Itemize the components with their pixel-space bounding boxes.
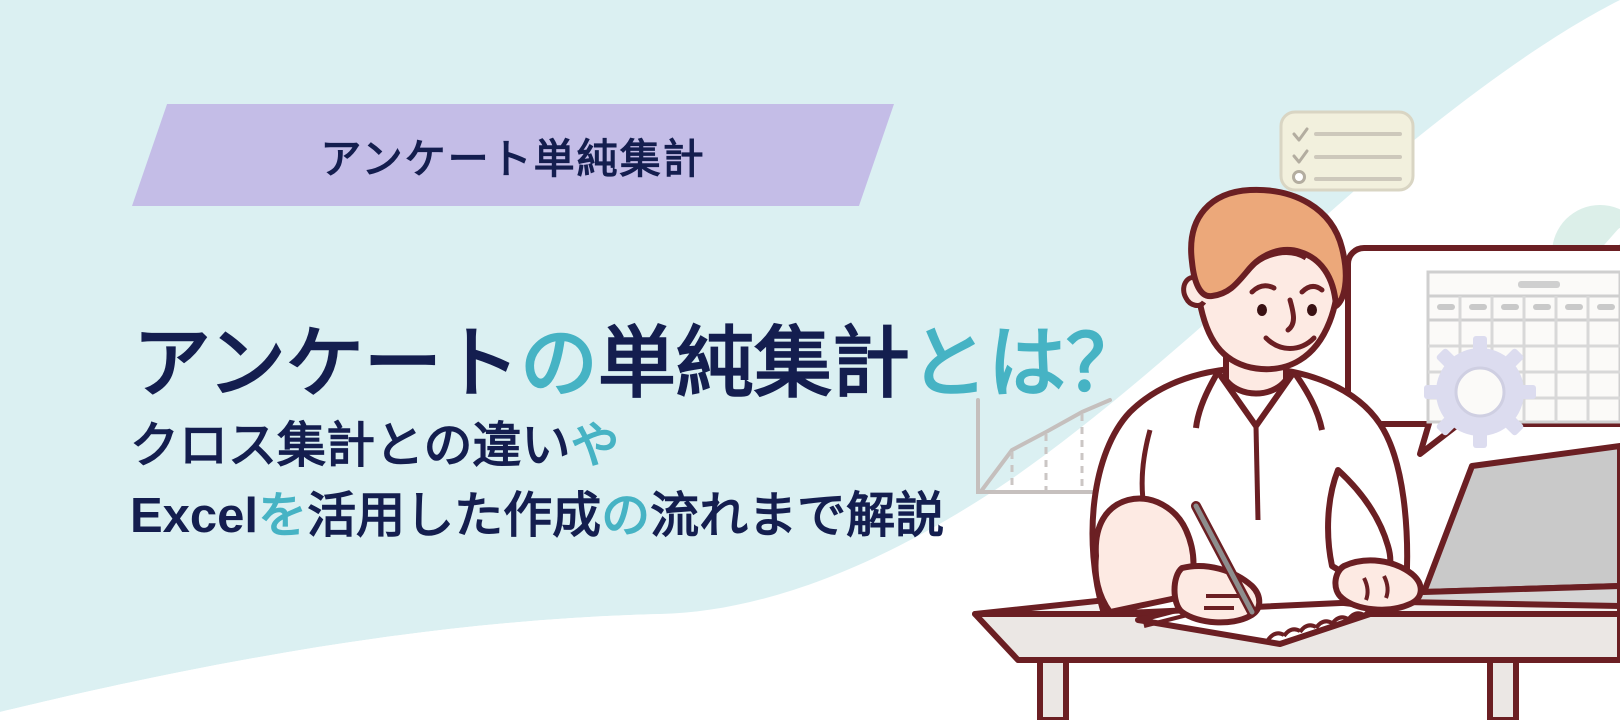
page-title: アンケートの単純集計とは？ [133,324,1144,402]
subtitle-1-segment-1: を [258,489,307,543]
gear-icon [1424,336,1536,448]
subtitle-1-segment-3: の [601,489,650,543]
subtitle-1-segment-0: Excel [130,489,258,543]
category-badge: アンケート単純集計 [132,104,894,206]
subtitle-0-segment-0: クロス集計との違い [130,419,571,473]
line-chart-icon [978,400,1110,492]
checklist-card-icon [1281,112,1413,190]
title-segment-2: 単純集計 [598,319,910,407]
subtitle-0-segment-1: や [571,419,620,473]
subtitle-line-1: Excelを活用した作成の流れまで解説 [130,482,944,552]
subtitle-1-segment-2: 活用した作成 [307,489,601,543]
title-segment-3: とは？ [910,319,1144,407]
subtitle-line-0: クロス集計との違いや [130,412,944,482]
page-subtitle: クロス集計との違いやExcelを活用した作成の流れまで解説 [130,412,944,551]
hero-banner: アンケート単純集計 アンケートの単純集計とは？ クロス集計との違いやExcelを… [0,0,1620,720]
subtitle-1-segment-4: 流れまで解説 [650,489,944,543]
badge-label: アンケート単純集計 [132,104,894,206]
title-segment-1: の [520,319,598,407]
title-segment-0: アンケート [133,319,520,407]
